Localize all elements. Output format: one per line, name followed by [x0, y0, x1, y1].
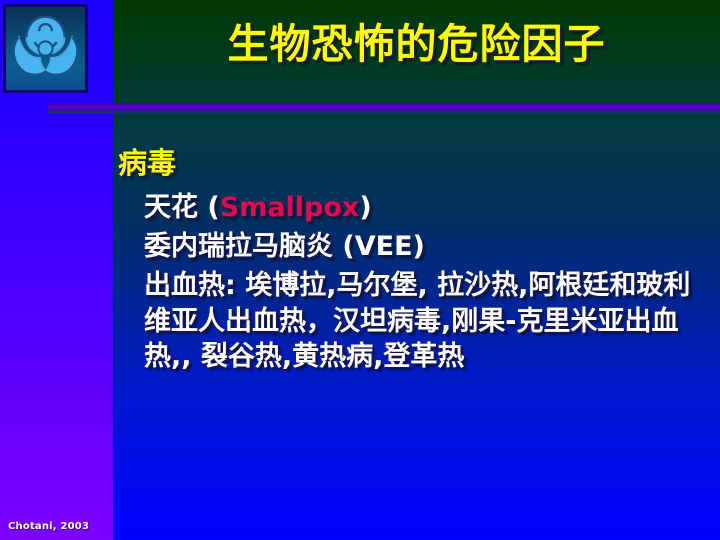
biohazard-icon [6, 7, 85, 90]
smallpox-suffix: ) [359, 192, 371, 223]
bullet-item-vee: 委内瑞拉马脑炎 (VEE) [144, 229, 698, 265]
smallpox-highlight: Smallpox [220, 192, 360, 223]
bullet-item-smallpox: 天花 (Smallpox) [144, 190, 698, 226]
slide-title: 生物恐怖的危险因子 [113, 22, 720, 67]
bullet-item-hemorrhagic-fevers: 出血热: 埃博拉,马尔堡, 拉沙热,阿根廷和玻利维亚人出血热，汉坦病毒,刚果-克… [144, 268, 698, 373]
biohazard-logo-box [3, 4, 88, 93]
smallpox-prefix: 天花 ( [144, 192, 220, 223]
bullet-heading-virus: 病毒 [118, 145, 698, 182]
slide-canvas: 生物恐怖的危险因子 病毒 天花 (Smallpox) 委内瑞拉马脑炎 (VEE)… [0, 0, 720, 540]
title-divider [48, 104, 720, 113]
footer-credit: Chotani, 2003 [8, 521, 89, 532]
slide-body: 病毒 天花 (Smallpox) 委内瑞拉马脑炎 (VEE) 出血热: 埃博拉,… [118, 145, 698, 377]
